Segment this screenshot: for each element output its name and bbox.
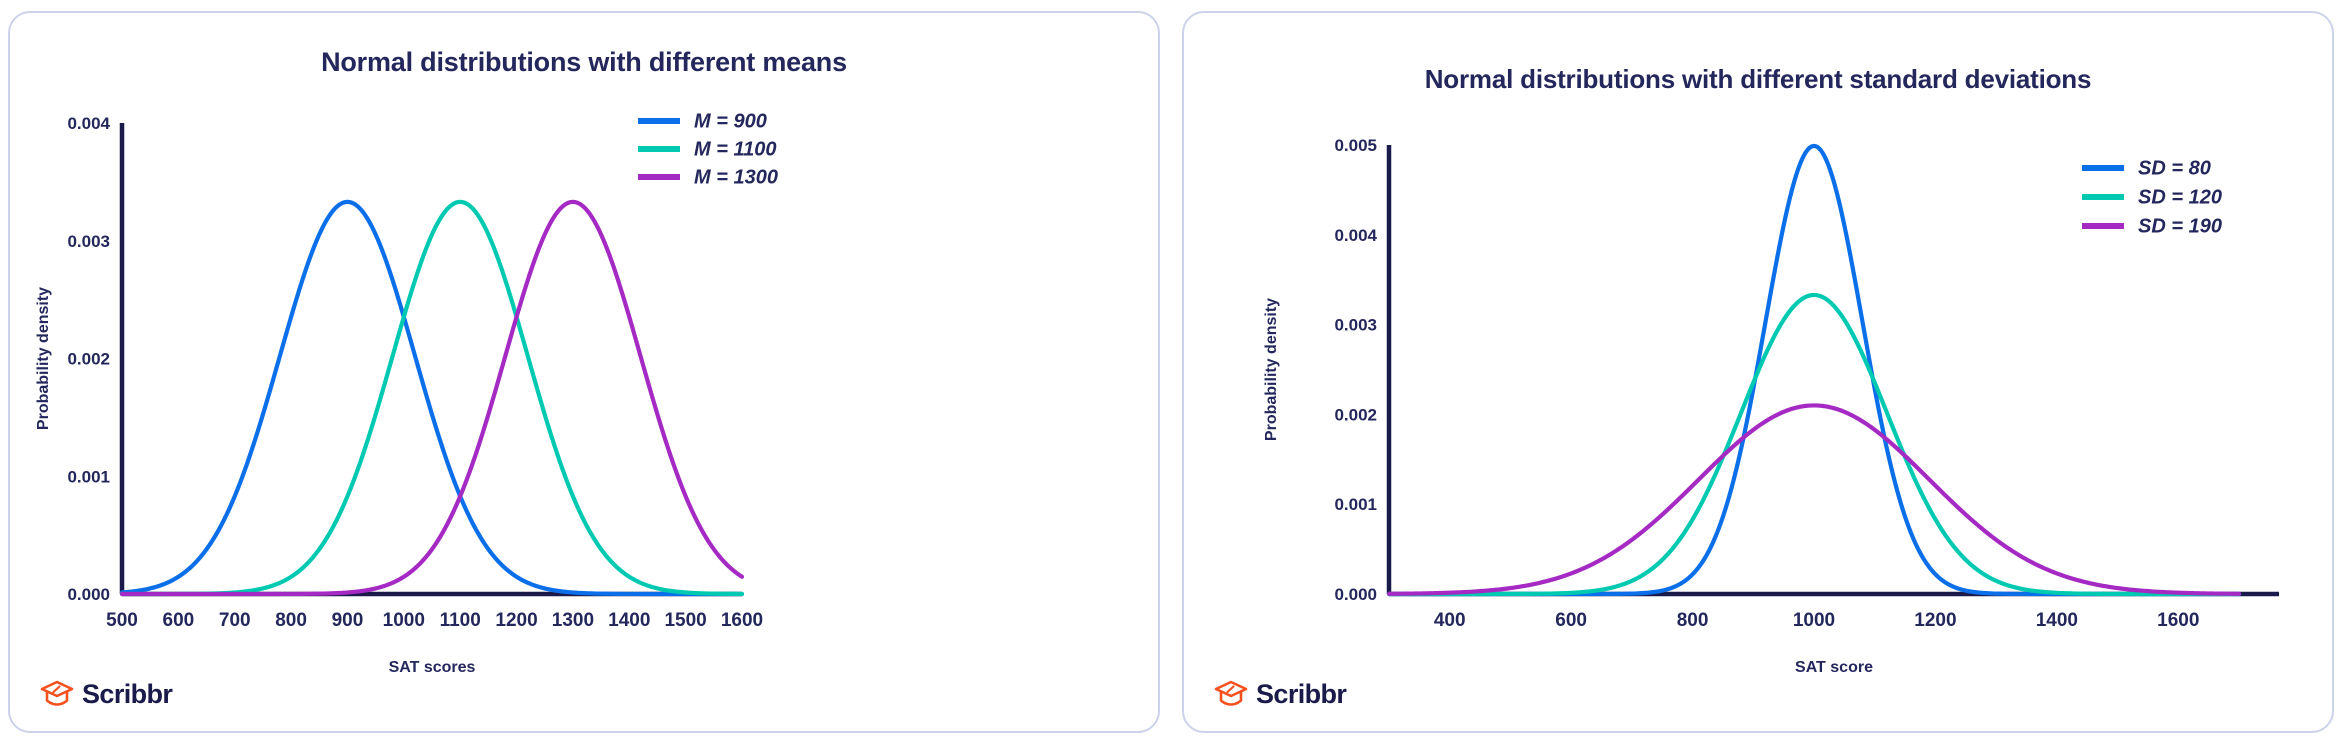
plot-area-means: 0.0000.0010.0020.0030.004500600700800900…: [10, 13, 1158, 731]
y-axis-title: Probability density: [1263, 298, 1280, 441]
y-tick-label: 0.001: [1334, 495, 1377, 514]
plot-svg-means: 0.0000.0010.0020.0030.004500600700800900…: [10, 13, 1158, 731]
legend-label: SD = 120: [2138, 186, 2222, 208]
graduation-cap-icon: [1214, 679, 1248, 709]
x-tick-label: 1100: [440, 610, 481, 631]
y-tick-label: 0.002: [1334, 405, 1377, 424]
brand-name: Scribbr: [82, 681, 172, 708]
distribution-curve: [1389, 146, 2239, 594]
x-tick-label: 1400: [2036, 610, 2078, 631]
y-tick-label: 0.002: [67, 350, 110, 369]
x-tick-label: 800: [275, 610, 307, 631]
chart-page: Normal distributions with different mean…: [0, 0, 2348, 744]
chart-card-sds: Normal distributions with different stan…: [1182, 11, 2334, 733]
y-tick-label: 0.003: [67, 232, 110, 251]
y-tick-label: 0.004: [1334, 226, 1377, 245]
brand-logo-left: Scribbr: [40, 679, 172, 709]
y-axis-title: Probability density: [35, 287, 52, 430]
y-tick-label: 0.001: [67, 467, 110, 486]
x-tick-label: 800: [1677, 610, 1709, 631]
y-tick-label: 0.004: [67, 114, 110, 133]
x-tick-label: 1200: [1914, 610, 1956, 631]
plot-area-sds: 0.0000.0010.0020.0030.0040.0054006008001…: [1184, 13, 2332, 731]
distribution-curve: [1389, 295, 2239, 594]
legend-label: SD = 80: [2138, 157, 2211, 179]
x-tick-label: 1000: [1793, 610, 1835, 631]
x-tick-label: 700: [219, 610, 251, 631]
legend-label: M = 1300: [694, 166, 778, 188]
x-tick-label: 1300: [552, 610, 594, 631]
brand-name: Scribbr: [1256, 681, 1346, 708]
x-tick-label: 1400: [608, 610, 650, 631]
legend-label: M = 900: [694, 110, 767, 132]
x-tick-label: 1200: [495, 610, 537, 631]
graduation-cap-icon: [40, 679, 74, 709]
chart-card-means: Normal distributions with different mean…: [8, 11, 1160, 733]
y-tick-label: 0.000: [1334, 585, 1377, 604]
y-tick-label: 0.005: [1334, 136, 1377, 155]
x-tick-label: 600: [163, 610, 195, 631]
x-axis-title: SAT scores: [389, 659, 476, 676]
x-tick-label: 600: [1555, 610, 1587, 631]
legend-label: SD = 190: [2138, 215, 2222, 237]
x-axis-title: SAT score: [1795, 659, 1873, 676]
x-tick-label: 1600: [721, 610, 763, 631]
y-tick-label: 0.000: [67, 585, 110, 604]
x-tick-label: 1500: [664, 610, 706, 631]
legend-label: M = 1100: [694, 138, 776, 160]
plot-svg-sds: 0.0000.0010.0020.0030.0040.0054006008001…: [1184, 13, 2332, 731]
x-tick-label: 1600: [2157, 610, 2199, 631]
brand-logo-right: Scribbr: [1214, 679, 1346, 709]
x-tick-label: 1000: [383, 610, 425, 631]
x-tick-label: 500: [106, 610, 138, 631]
distribution-curve: [1389, 405, 2239, 593]
x-tick-label: 900: [332, 610, 364, 631]
distribution-curve: [122, 202, 742, 594]
y-tick-label: 0.003: [1334, 316, 1377, 335]
x-tick-label: 400: [1434, 610, 1466, 631]
